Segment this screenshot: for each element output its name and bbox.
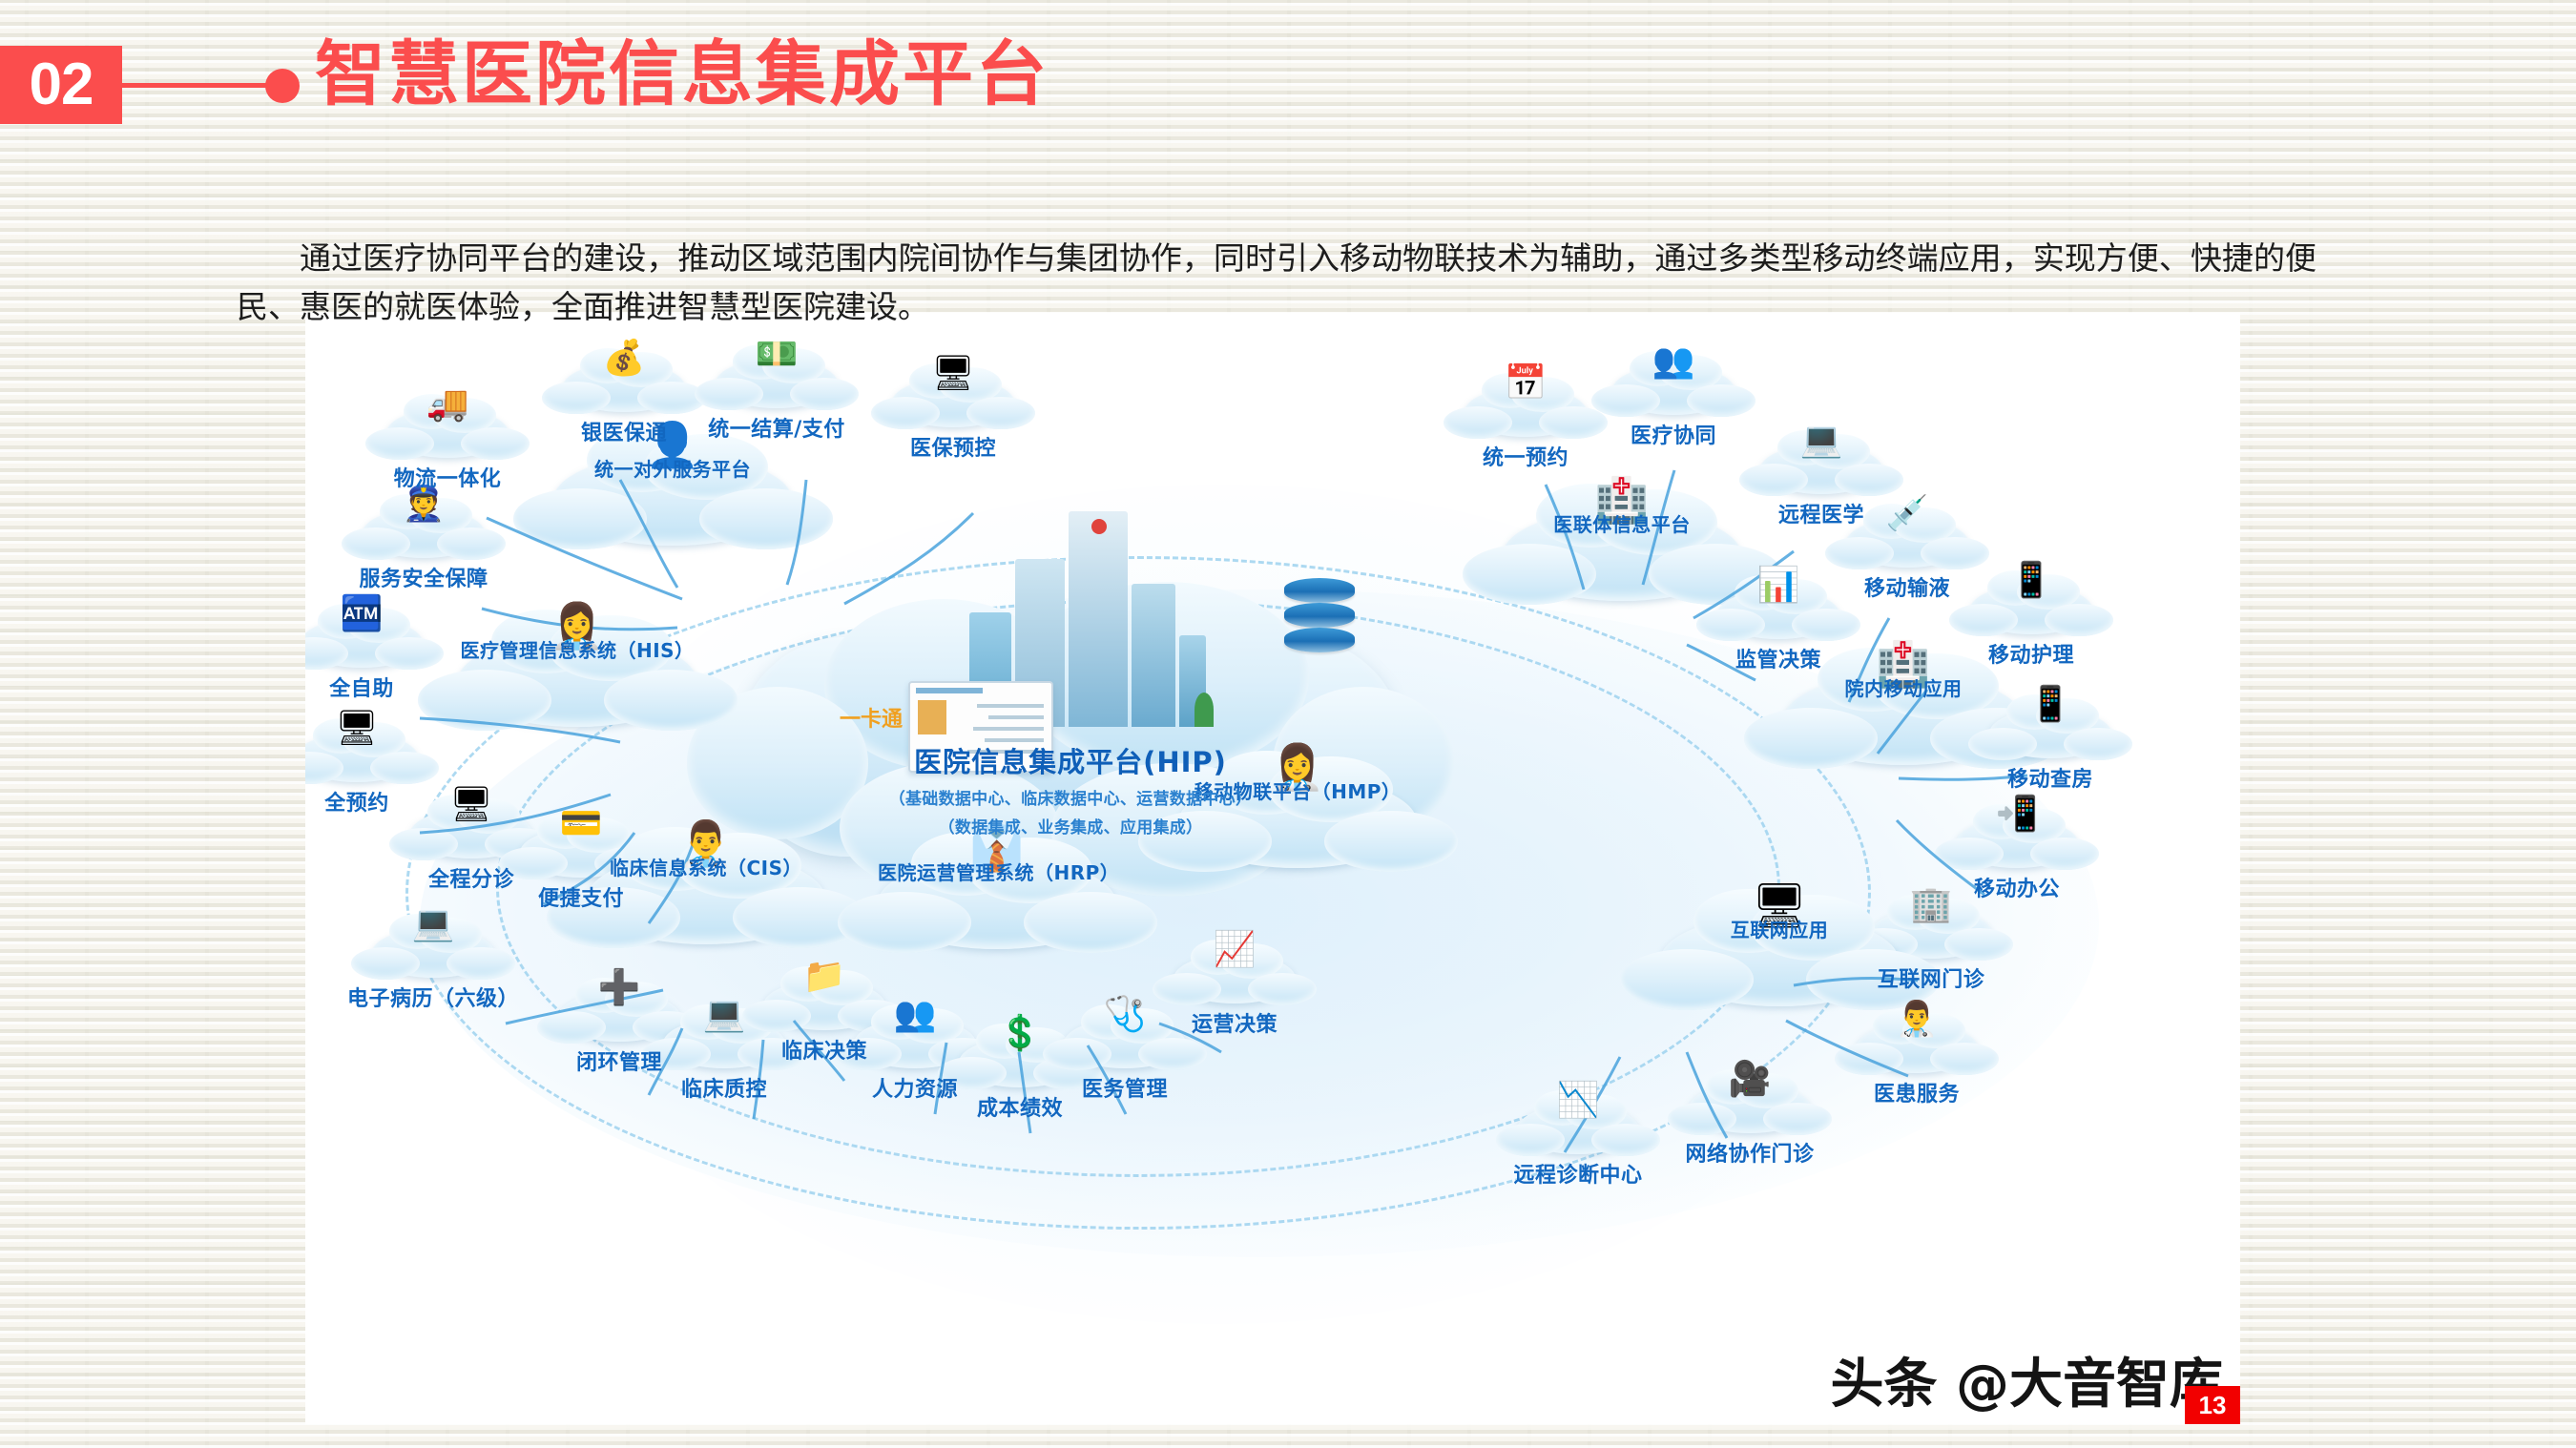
node-label: 医保预控 (863, 431, 1043, 462)
hub-text-block: 医院信息集成平台(HIP) （基础数据中心、临床数据中心、运营数据中心） （数据… (737, 740, 1404, 838)
architecture-diagram: 一卡通 医院信息集成平台(HIP) （基础数据中心、临床数据中心、运营数据中心）… (305, 313, 2240, 1424)
node-label: 临床信息系统（CIS） (587, 853, 825, 880)
node-label: 监管决策 (1689, 643, 1868, 673)
node-label: 便捷支付 (491, 881, 671, 912)
node-label: 远程医学 (1732, 498, 1911, 528)
node-label: 移动办公 (1927, 872, 2107, 902)
page-title: 智慧医院信息集成平台 (315, 34, 1049, 115)
node-label: 互联网应用 (1660, 915, 1899, 942)
node-label: 医疗协同 (1584, 419, 1763, 449)
watermark: 头条 @大音智库 (1831, 1341, 2224, 1418)
node-label: 远程诊断中心 (1488, 1158, 1668, 1189)
one-card-label: 一卡通 (840, 702, 903, 733)
hub-subtitle-2: （数据集成、业务集成、应用集成） (737, 814, 1404, 838)
node-label: 服务安全保障 (334, 562, 513, 592)
node-label: 统一结算/支付 (687, 412, 866, 443)
body-paragraph: 通过医疗协同平台的建设，推动区域范围内院间协作与集团协作，同时引入移动物联技术为… (237, 234, 2316, 331)
diagram-panel: 一卡通 医院信息集成平台(HIP) （基础数据中心、临床数据中心、运营数据中心）… (305, 313, 2240, 1424)
node-label: 移动护理 (1942, 638, 2121, 669)
title-connector-line (122, 83, 280, 88)
node-label: 电子病历（六级） (343, 982, 523, 1012)
node-label: 全预约 (305, 786, 447, 817)
node-label: 院内移动应用 (1784, 673, 2023, 701)
node-label: 运营决策 (1145, 1007, 1324, 1038)
node-label: 移动查房 (1961, 762, 2140, 793)
node-label: 互联网门诊 (1841, 962, 2021, 993)
hub-subtitle-1: （基础数据中心、临床数据中心、运营数据中心） (737, 785, 1404, 809)
page-number-badge: 13 (2185, 1386, 2240, 1424)
node-label: 医疗管理信息系统（HIS） (458, 635, 696, 663)
node-label: 医联体信息平台 (1503, 509, 1741, 537)
node-label: 网络协作门诊 (1660, 1137, 1839, 1168)
hub-title: 医院信息集成平台(HIP) (737, 740, 1404, 780)
node-label: 全自助 (305, 672, 451, 702)
node-label: 医务管理 (1035, 1072, 1215, 1103)
node-label: 统一对外服务平台 (553, 454, 792, 482)
node-label: 医院运营管理系统（HRP） (878, 858, 1116, 885)
node-label: 移动输液 (1818, 571, 1997, 602)
section-number-badge: 02 (0, 46, 122, 124)
database-icon (1284, 578, 1355, 660)
node-label: 临床质控 (634, 1072, 814, 1103)
node-label: 临床决策 (735, 1034, 914, 1065)
node-label: 医患服务 (1827, 1077, 2006, 1107)
title-connector-dot (265, 69, 300, 103)
node-label: 物流一体化 (358, 462, 537, 492)
